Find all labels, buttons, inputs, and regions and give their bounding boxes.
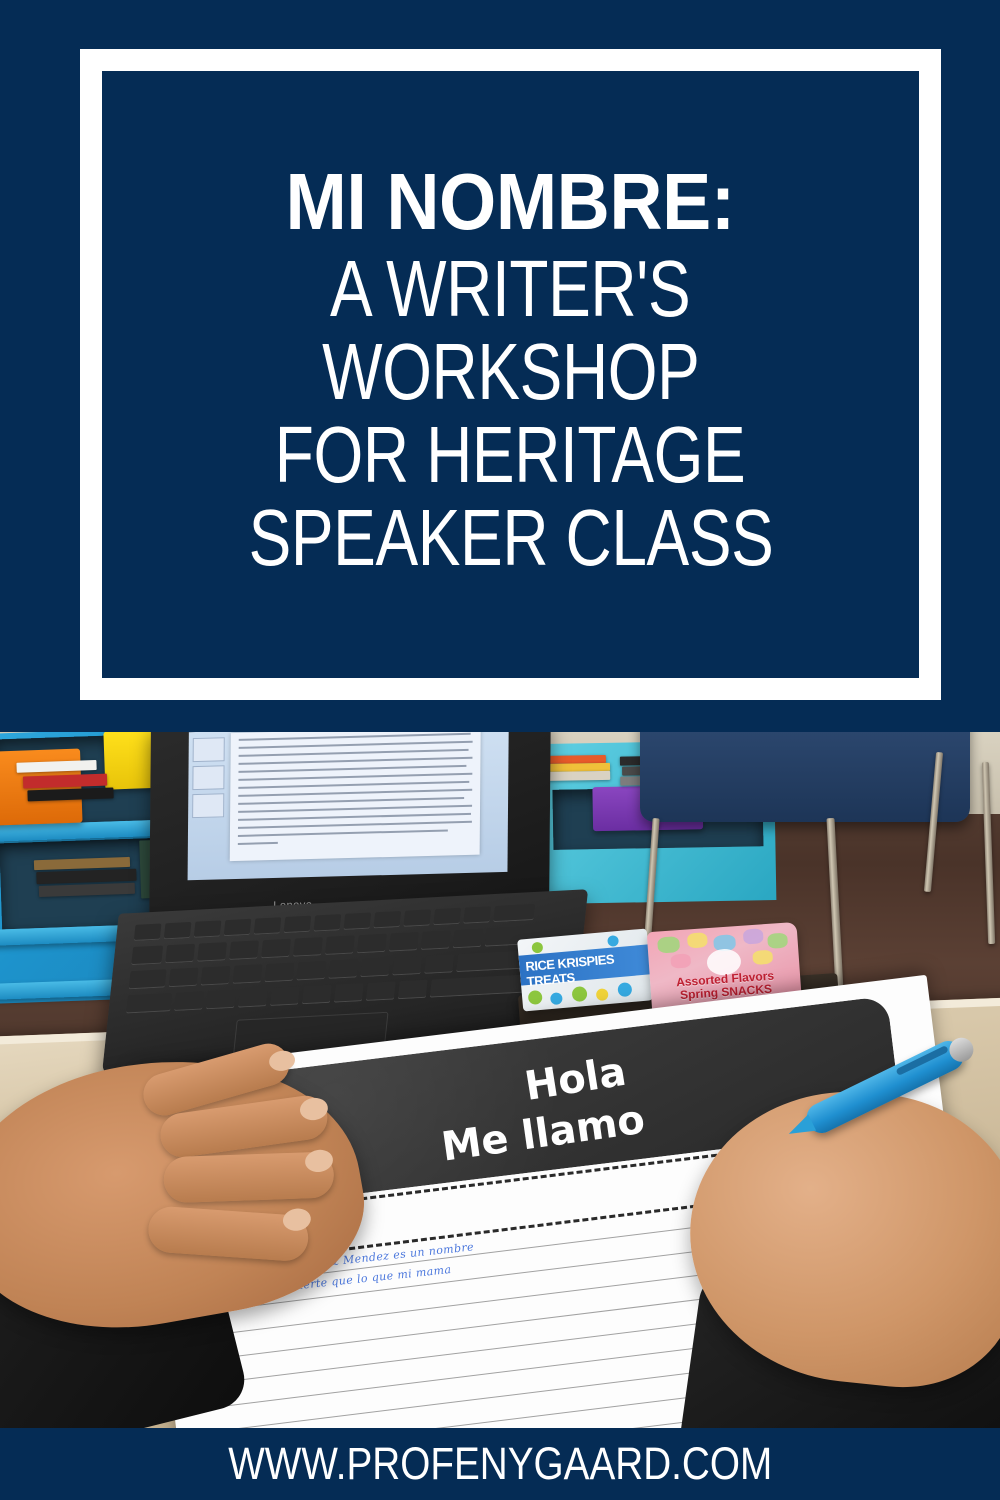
pinterest-pin: MI NOMBRE: A WRITER'S WORKSHOP FOR HERIT… (0, 0, 1000, 1500)
document-page (230, 732, 481, 861)
title-frame-border: MI NOMBRE: A WRITER'S WORKSHOP FOR HERIT… (80, 49, 941, 700)
classroom-chair (640, 732, 970, 822)
title-line-3: WORKSHOP (322, 332, 699, 411)
worksheet-me-llamo-text: Me llamo (439, 1097, 648, 1171)
title-text-container: MI NOMBRE: A WRITER'S WORKSHOP FOR HERIT… (102, 71, 919, 678)
classroom-photo: Lenovo (0, 732, 1000, 1432)
title-line-5: SPEAKER CLASS (248, 498, 773, 577)
laptop-keyboard (125, 903, 555, 1022)
rice-krispies-treats-box: RICE KRISPIES TREATS (517, 928, 653, 1011)
title-line-1: MI NOMBRE: (286, 162, 735, 241)
website-url[interactable]: WWW.PROFENYGAARD.COM (228, 1438, 772, 1490)
title-line-2: A WRITER'S (330, 249, 690, 328)
footer-bar: WWW.PROFENYGAARD.COM (0, 1428, 1000, 1500)
title-line-4: FOR HERITAGE (275, 415, 745, 494)
laptop-screen (188, 732, 509, 880)
title-block: MI NOMBRE: A WRITER'S WORKSHOP FOR HERIT… (0, 0, 1000, 732)
